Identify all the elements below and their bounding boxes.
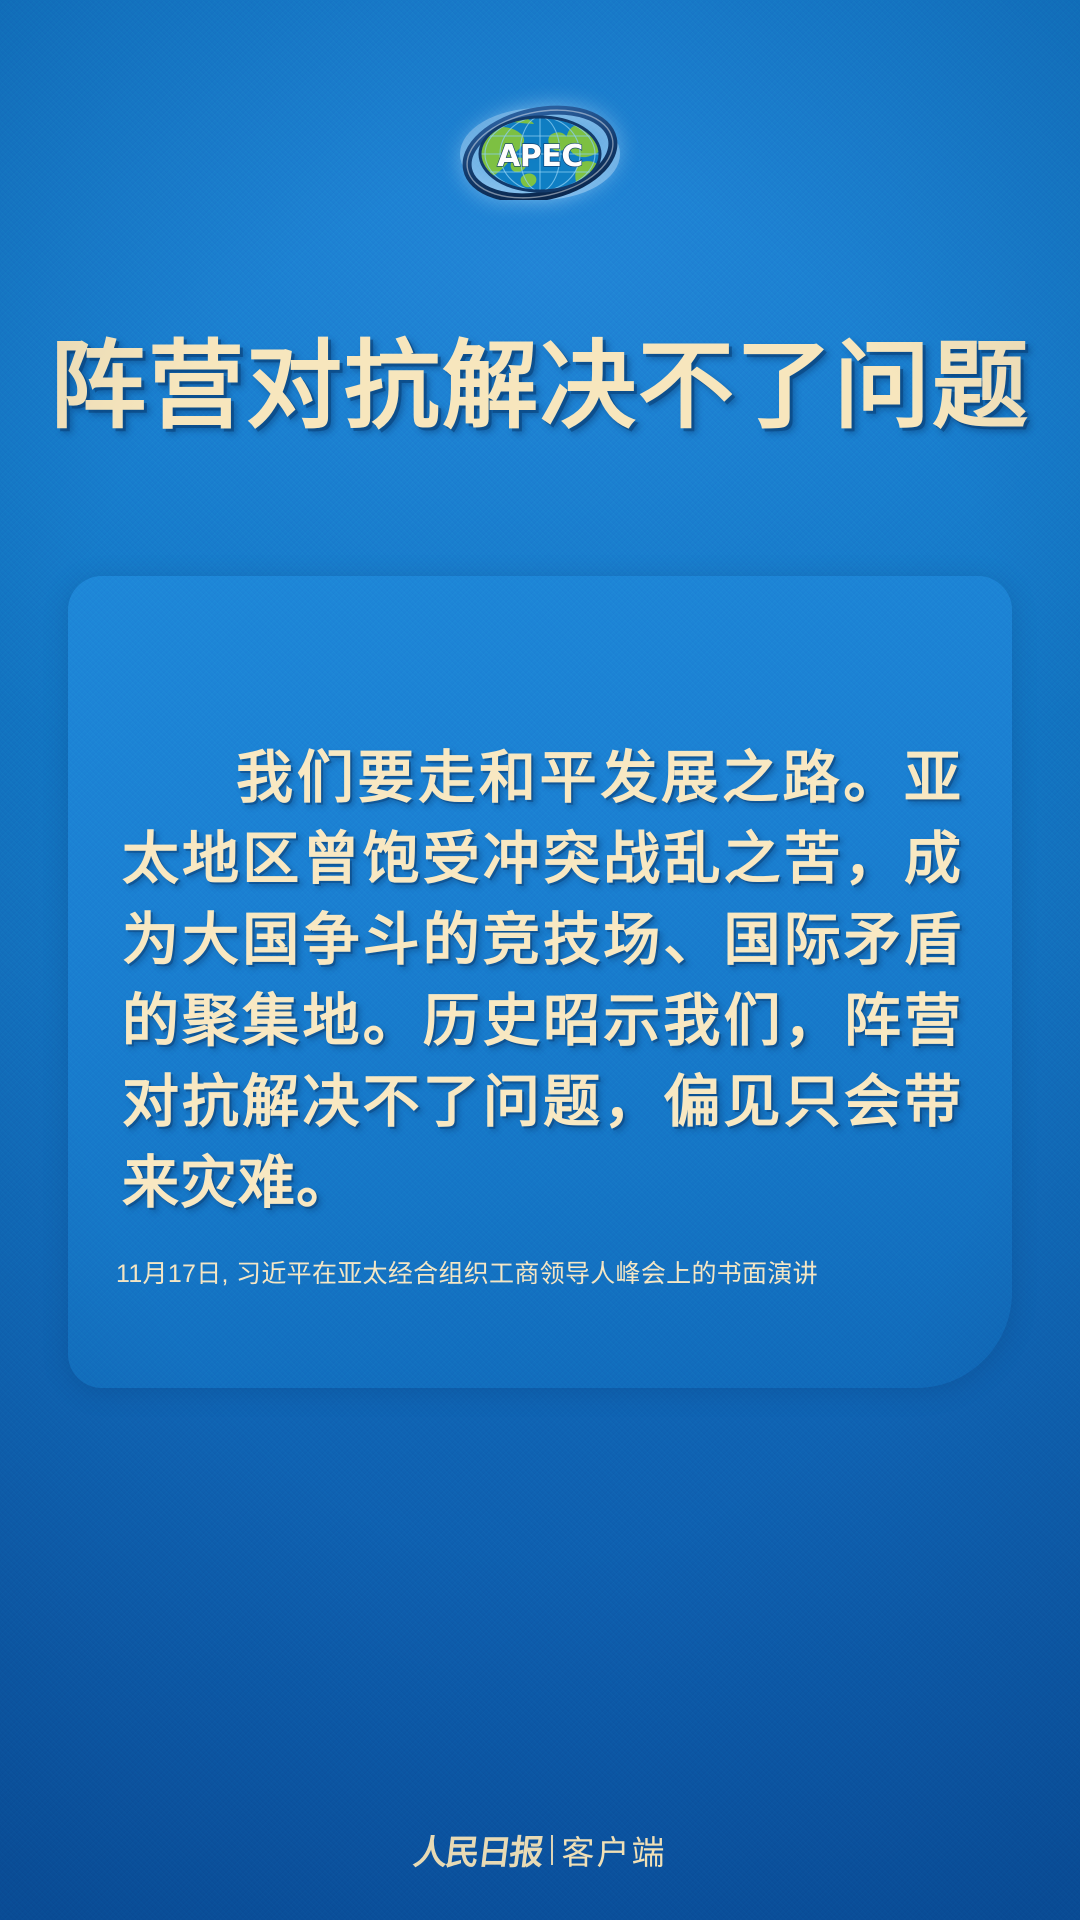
page-title: 阵营对抗解决不了问题 xyxy=(0,338,1080,434)
peoples-daily-logo: 人民日报 xyxy=(410,1825,544,1874)
poster-root: APEC 阵营对抗解决不了问题 我们要走和平发展之路。亚太地区曾饱受冲突战乱之苦… xyxy=(0,0,1080,1920)
quote-body: 我们要走和平发展之路。亚太地区曾饱受冲突战乱之苦，成为大国争斗的竞技场、国际矛盾… xyxy=(122,738,962,1224)
footer-branding: 人民日报 客户端 xyxy=(0,1825,1080,1874)
apec-logo-globe: APEC xyxy=(456,104,624,200)
globe-icon: APEC xyxy=(456,104,624,200)
footer-divider xyxy=(551,1835,553,1865)
apec-wordmark: APEC xyxy=(497,139,583,174)
footer-app-label: 客户端 xyxy=(562,1826,667,1874)
quote-card: 我们要走和平发展之路。亚太地区曾饱受冲突战乱之苦，成为大国争斗的竞技场、国际矛盾… xyxy=(68,576,1012,1388)
quote-source-caption: 11月17日, 习近平在亚太经合组织工商领导人峰会上的书面演讲 xyxy=(116,1254,976,1290)
apec-logo: APEC xyxy=(0,104,1080,200)
